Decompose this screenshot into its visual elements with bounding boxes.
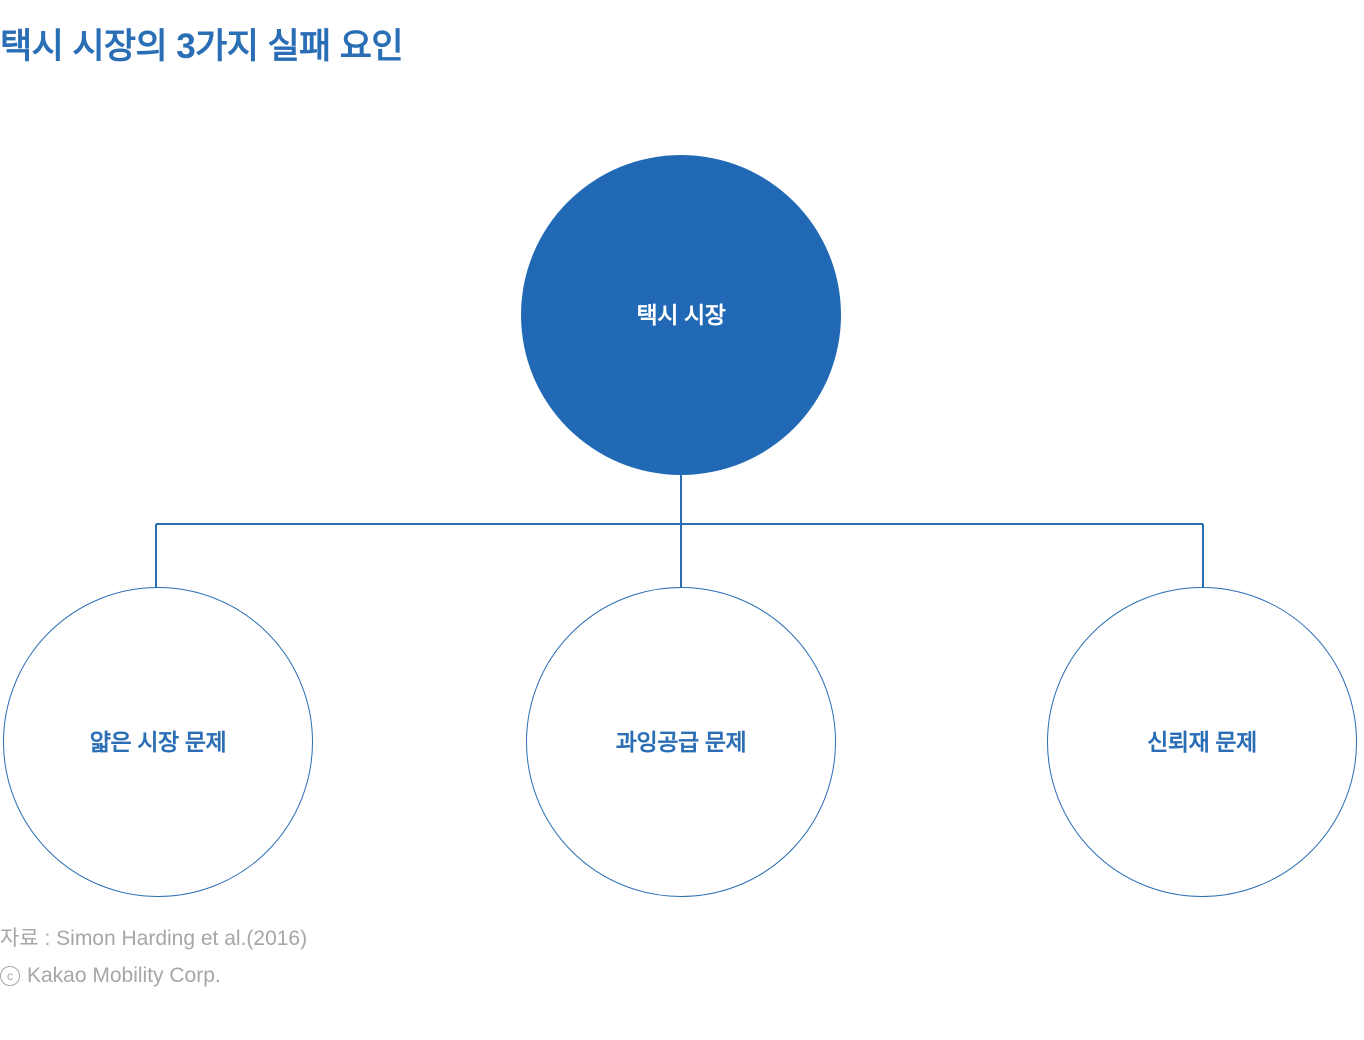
footer-copyright-line: c Kakao Mobility Corp. [0,965,307,986]
copyright-icon: c [0,966,20,986]
footer-source-text: 자료 : Simon Harding et al.(2016) [0,928,307,949]
footer-copyright-text: Kakao Mobility Corp. [27,965,221,986]
footer-source-line: 자료 : Simon Harding et al.(2016) [0,928,307,949]
node-child-1-label: 얇은 시장 문제 [90,728,227,757]
node-child-3-label: 신뢰재 문제 [1147,728,1257,757]
node-credence-goods-problem[interactable]: 신뢰재 문제 [1047,587,1357,897]
page-title: 택시 시장의 3가지 실패 요인 [0,26,403,68]
node-oversupply-problem[interactable]: 과잉공급 문제 [526,587,836,897]
node-root-taxi-market[interactable]: 택시 시장 [521,155,841,475]
node-child-2-label: 과잉공급 문제 [616,728,747,757]
diagram-canvas: 택시 시장의 3가지 실패 요인 택시 시장 얇은 시장 문제 과잉공급 문제 … [0,0,1364,1040]
footer: 자료 : Simon Harding et al.(2016) c Kakao … [0,928,307,1002]
node-root-label: 택시 시장 [636,301,725,330]
node-thin-market-problem[interactable]: 얇은 시장 문제 [3,587,313,897]
